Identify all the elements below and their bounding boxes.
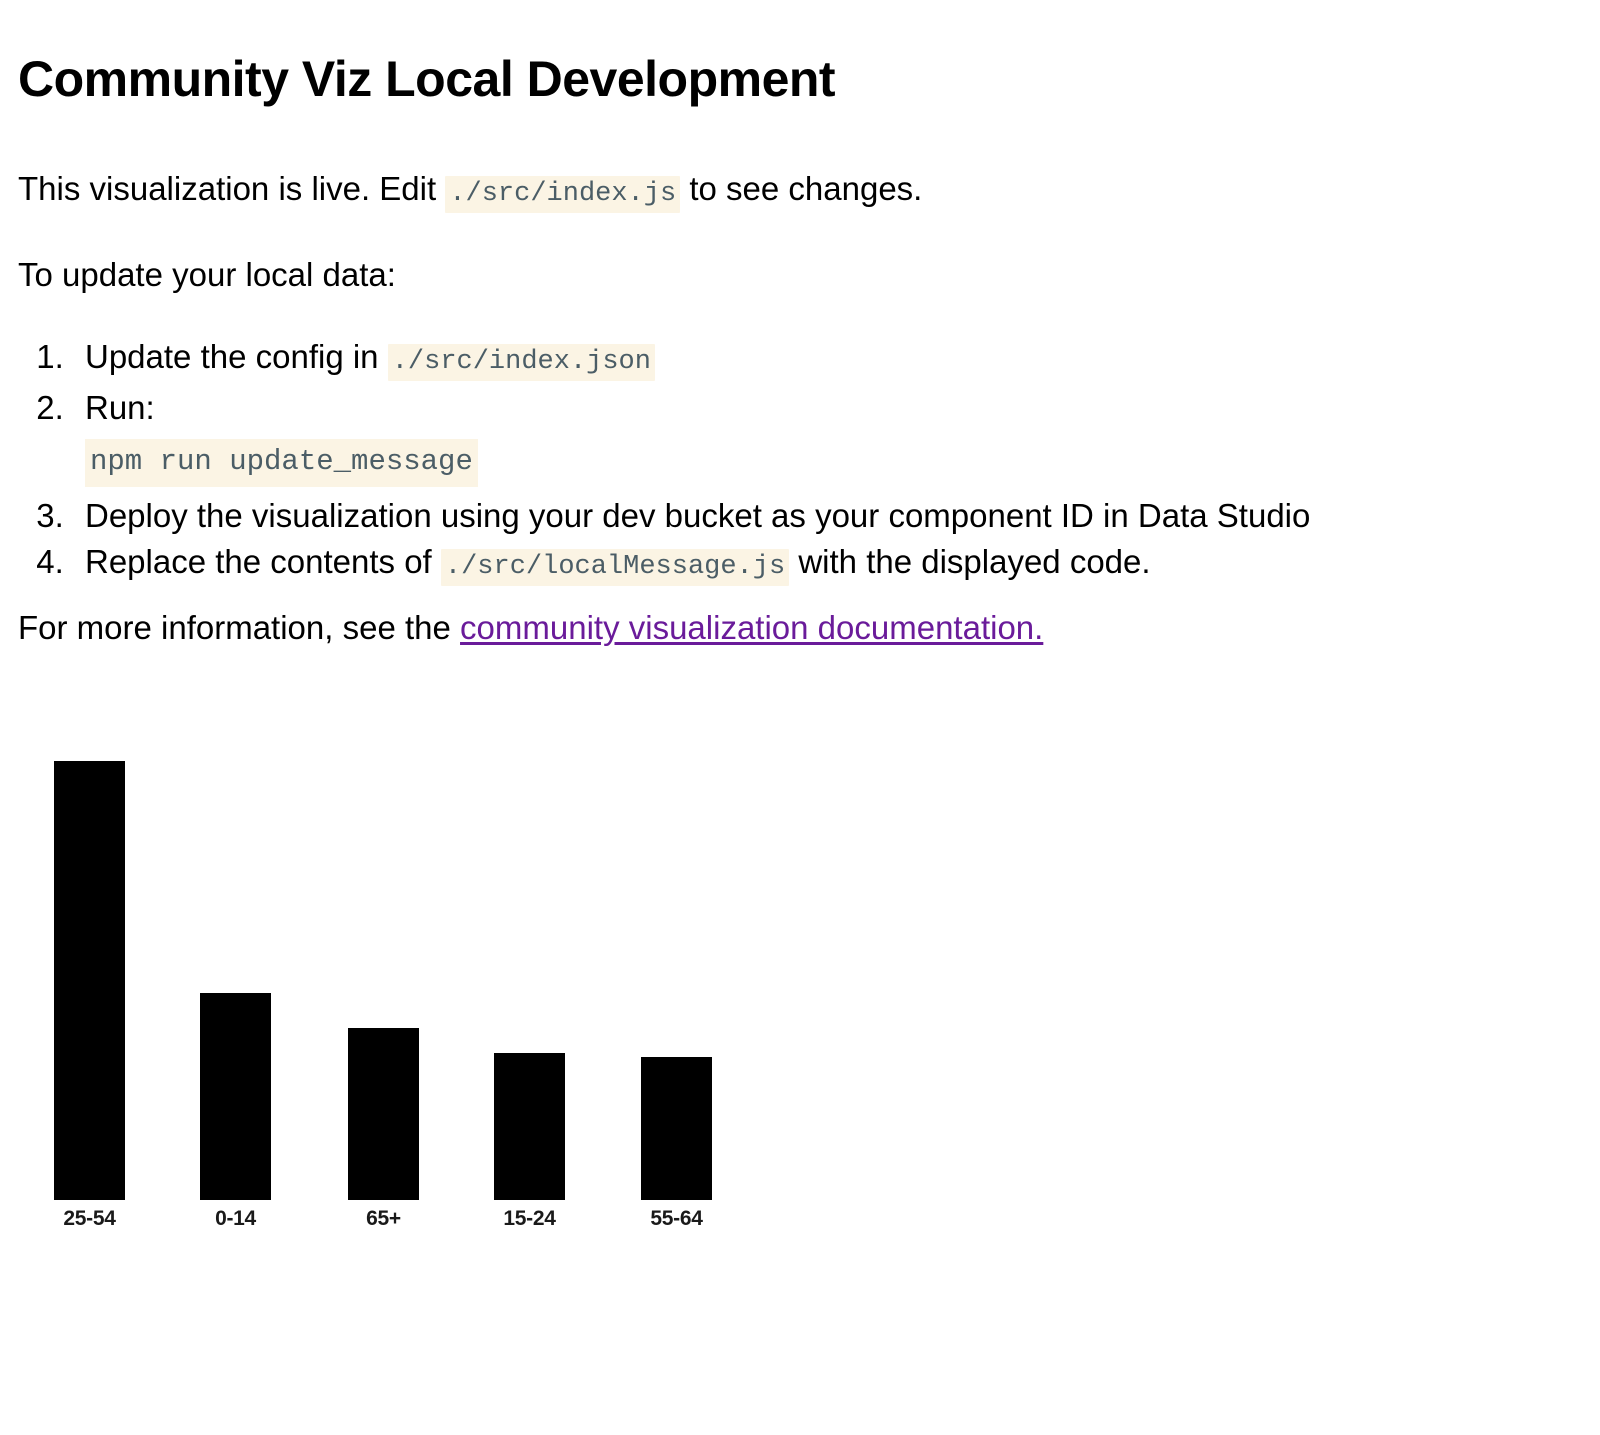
page-title: Community Viz Local Development bbox=[18, 50, 835, 108]
step1-text-before: Update the config in bbox=[85, 338, 388, 375]
more-info-paragraph: For more information, see the community … bbox=[18, 607, 1043, 649]
list-item: Run: npm run update_message bbox=[73, 385, 1310, 487]
bar-chart: 25-540-1465+15-2455-64 bbox=[18, 700, 778, 1260]
intro-text-after: to see changes. bbox=[680, 170, 922, 207]
step2-text-before: Run: bbox=[85, 389, 155, 426]
intro-text-before: This visualization is live. Edit bbox=[18, 170, 445, 207]
chart-bar[interactable] bbox=[200, 993, 271, 1200]
code-block-npm-run: npm run update_message bbox=[85, 439, 478, 487]
list-item: Replace the contents of ./src/localMessa… bbox=[73, 539, 1310, 590]
bar-axis-label: 15-24 bbox=[474, 1206, 585, 1232]
bar-axis-label: 25-54 bbox=[34, 1206, 145, 1232]
bar-group bbox=[348, 708, 419, 1200]
inline-code-index-json: ./src/index.json bbox=[388, 344, 655, 381]
step4-text-before: Replace the contents of bbox=[85, 543, 441, 580]
bar-axis-label: 65+ bbox=[328, 1206, 439, 1232]
bar-group bbox=[200, 708, 271, 1200]
step4-text-after: with the displayed code. bbox=[789, 543, 1150, 580]
step3-text: Deploy the visualization using your dev … bbox=[85, 497, 1310, 534]
inline-code-index-js: ./src/index.js bbox=[445, 176, 680, 213]
bar-group bbox=[641, 708, 712, 1200]
list-item: Deploy the visualization using your dev … bbox=[73, 493, 1310, 539]
intro-paragraph: This visualization is live. Edit ./src/i… bbox=[18, 168, 922, 215]
list-item: Update the config in ./src/index.json bbox=[73, 334, 1310, 385]
chart-bar[interactable] bbox=[348, 1028, 419, 1200]
chart-bar[interactable] bbox=[494, 1053, 565, 1200]
more-info-text-before: For more information, see the bbox=[18, 609, 460, 646]
community-visualization-documentation-link[interactable]: community visualization documentation. bbox=[460, 609, 1043, 646]
chart-bar[interactable] bbox=[641, 1057, 712, 1200]
update-heading: To update your local data: bbox=[18, 254, 396, 296]
bar-group bbox=[54, 708, 125, 1200]
bar-axis-label: 0-14 bbox=[180, 1206, 291, 1232]
community-viz-page: Community Viz Local Development This vis… bbox=[0, 0, 1600, 1435]
bar-group bbox=[494, 708, 565, 1200]
steps-list: Update the config in ./src/index.json Ru… bbox=[18, 334, 1310, 590]
bar-axis-label: 55-64 bbox=[621, 1206, 732, 1232]
chart-bar[interactable] bbox=[54, 761, 125, 1200]
chart-plot-area: 25-540-1465+15-2455-64 bbox=[18, 700, 778, 1200]
inline-code-local-message-js: ./src/localMessage.js bbox=[441, 549, 789, 586]
